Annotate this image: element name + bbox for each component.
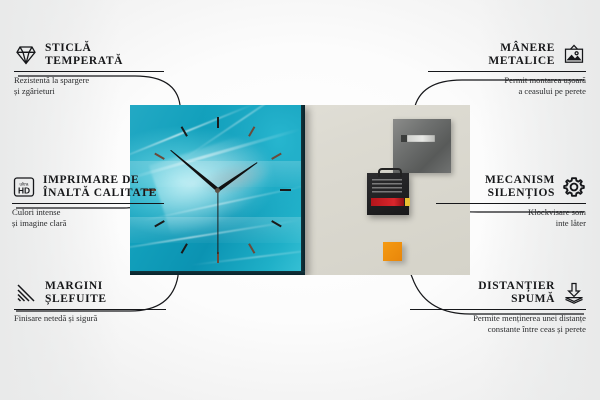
- clock-edge-bottom: [130, 271, 305, 275]
- callout-title: MÂNERE METALICE: [488, 42, 555, 68]
- callout-title: STICLĂ TEMPERATĂ: [45, 42, 123, 68]
- callout-foam-spacer: DISTANȚIER SPUMĂ Permite menținerea unei…: [410, 280, 586, 334]
- callout-rule: [14, 309, 166, 310]
- foam-spacer-part: [383, 242, 402, 261]
- callout-silent-mechanism: MECANISM SILENȚIOS Klockvisare som inte …: [436, 174, 586, 228]
- mechanism-label: [372, 179, 402, 195]
- mechanism-handle: [378, 168, 402, 177]
- clock-center-cap: [215, 188, 220, 193]
- product-photo: [130, 105, 470, 275]
- svg-text:HD: HD: [18, 185, 30, 195]
- battery: [371, 198, 404, 206]
- callout-rule: [436, 203, 586, 204]
- callout-hd-print: ultra HD IMPRIMARE DE ÎNALTĂ CALITATE Cu…: [12, 174, 164, 228]
- diamond-icon: [14, 43, 38, 67]
- clock-tick: [217, 117, 219, 128]
- clock-second-hand: [217, 190, 218, 254]
- clock-edge-right: [301, 105, 305, 275]
- metal-plate-part: [393, 119, 451, 173]
- metal-plate-slot: [407, 135, 435, 142]
- callout-title: DISTANȚIER SPUMĂ: [478, 280, 555, 306]
- fiber-streak: [190, 246, 305, 266]
- callout-subtitle: Klockvisare som inte låter: [436, 207, 586, 228]
- callout-rule: [410, 309, 586, 310]
- diagonal-lines-icon: [14, 281, 38, 305]
- callout-title: MECANISM SILENȚIOS: [485, 174, 555, 200]
- picture-hanger-icon: [562, 43, 586, 67]
- callout-title: IMPRIMARE DE ÎNALTĂ CALITATE: [43, 174, 157, 200]
- down-arrow-pad-icon: [562, 281, 586, 305]
- callout-tempered-glass: STICLĂ TEMPERATĂ Rezistentă la spargere …: [14, 42, 164, 96]
- callout-subtitle: Permite menținerea unei distanțe constan…: [410, 313, 586, 334]
- clock-tick: [280, 189, 291, 191]
- gear-icon: [562, 175, 586, 199]
- callout-metal-handles: MÂNERE METALICE Permit montarea ușoară a…: [428, 42, 586, 96]
- battery-positive-terminal: [405, 198, 410, 206]
- callout-subtitle: Permit montarea ușoară a ceasului pe per…: [428, 75, 586, 96]
- callout-title: MARGINI ȘLEFUITE: [45, 280, 107, 306]
- clock-mechanism-part: [367, 173, 409, 215]
- ultra-hd-icon: ultra HD: [12, 175, 36, 199]
- callout-rule: [14, 71, 164, 72]
- callout-rule: [12, 203, 164, 204]
- callout-subtitle: Culori intense și imagine clară: [12, 207, 164, 228]
- callout-polished-edges: MARGINI ȘLEFUITE Finisare netedă și sigu…: [14, 280, 166, 324]
- callout-rule: [428, 71, 586, 72]
- infographic-canvas: STICLĂ TEMPERATĂ Rezistentă la spargere …: [0, 0, 600, 400]
- callout-subtitle: Rezistentă la spargere și zgârieturi: [14, 75, 164, 96]
- callout-subtitle: Finisare netedă și sigură: [14, 313, 166, 324]
